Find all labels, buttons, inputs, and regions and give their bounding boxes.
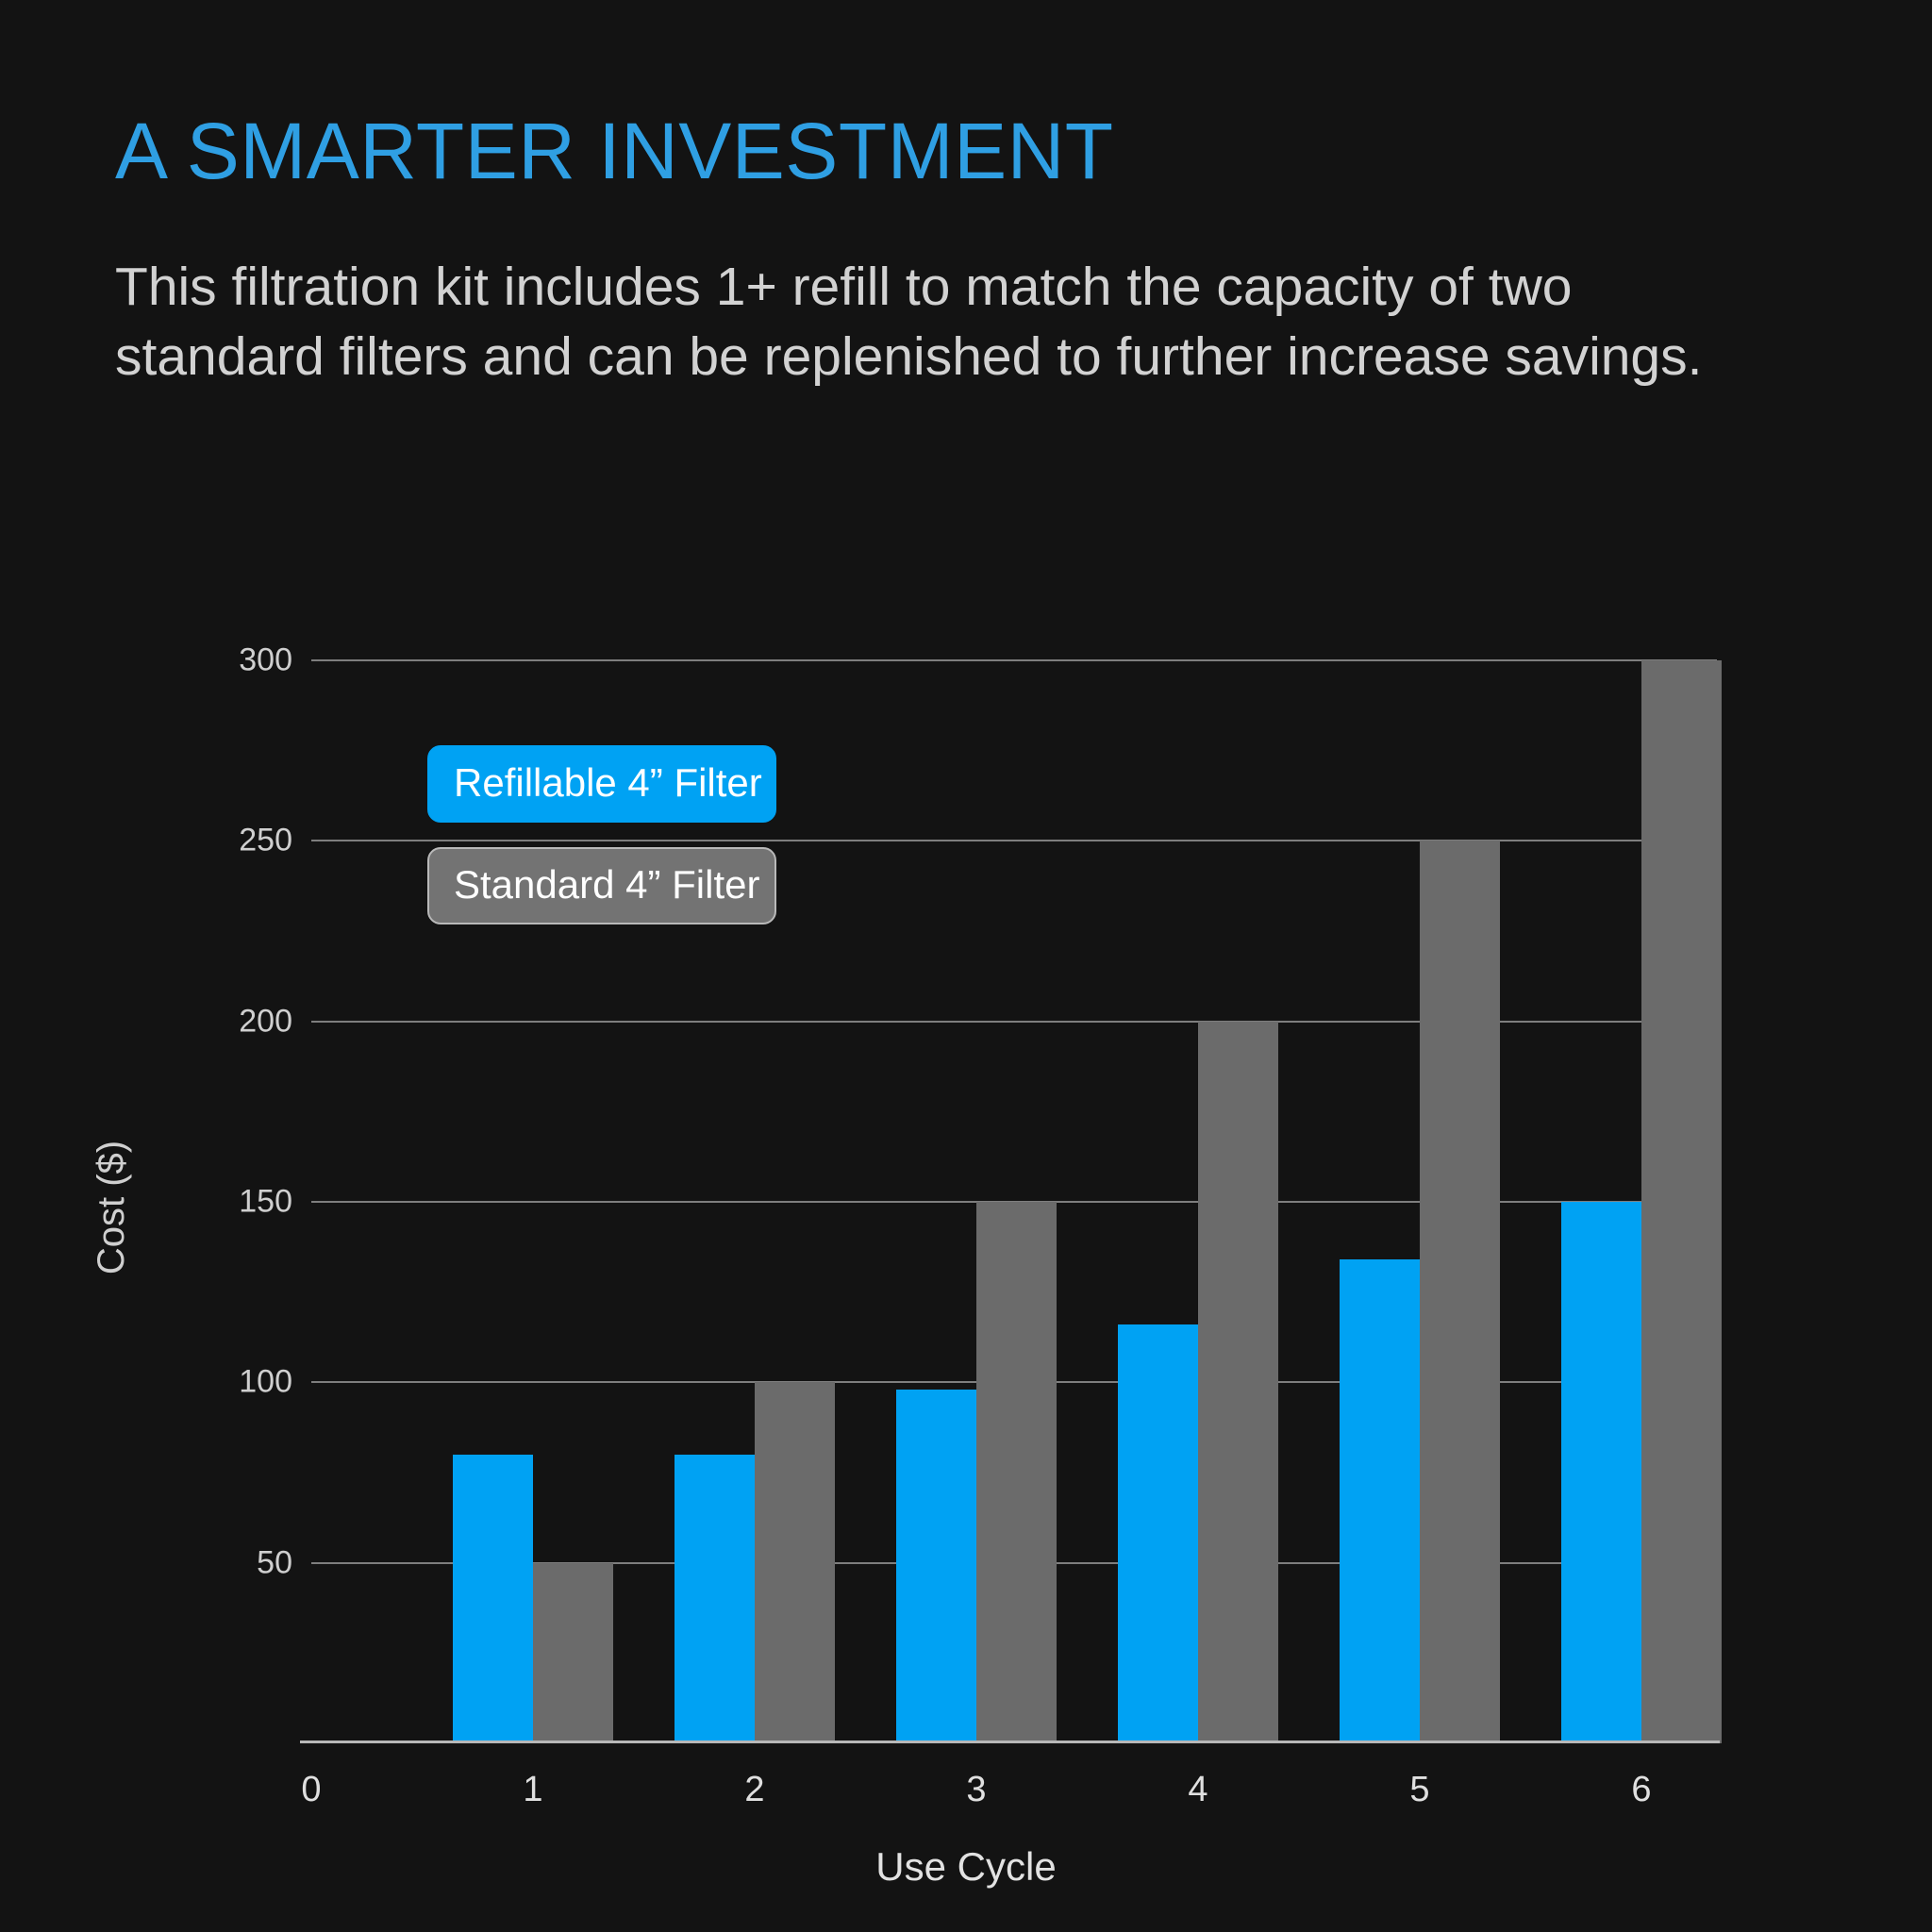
chart-legend: Refillable 4” Filter Standard 4” Filter [427, 745, 776, 924]
bar-refillable-cycle-2 [675, 1455, 755, 1743]
bar-standard-cycle-4 [1198, 1022, 1278, 1743]
bar-refillable-cycle-3 [896, 1390, 976, 1743]
legend-item-refillable[interactable]: Refillable 4” Filter [427, 745, 776, 823]
bar-standard-cycle-3 [976, 1202, 1057, 1743]
bar-standard-cycle-2 [755, 1382, 835, 1743]
x-tick-label: 2 [708, 1770, 802, 1810]
bar-chart: Cost ($) 50100150200250300 0123456 Use C… [0, 0, 1932, 1932]
bar-refillable-cycle-1 [453, 1455, 533, 1743]
x-tick-label: 5 [1373, 1770, 1467, 1810]
x-tick-label: 6 [1594, 1770, 1689, 1810]
bar-refillable-cycle-6 [1561, 1202, 1641, 1743]
x-tick-label: 4 [1151, 1770, 1245, 1810]
bar-standard-cycle-6 [1641, 660, 1722, 1743]
bar-refillable-cycle-5 [1340, 1259, 1420, 1743]
legend-item-standard[interactable]: Standard 4” Filter [427, 847, 776, 924]
x-tick-label: 3 [929, 1770, 1024, 1810]
bar-refillable-cycle-4 [1118, 1324, 1198, 1743]
x-axis-line [300, 1740, 1720, 1743]
x-tick-label: 0 [264, 1770, 358, 1810]
x-axis-title: Use Cycle [0, 1844, 1932, 1890]
x-tick-label: 1 [486, 1770, 580, 1810]
bars-layer [0, 0, 1932, 1743]
bar-standard-cycle-5 [1420, 841, 1500, 1743]
bar-standard-cycle-1 [533, 1563, 613, 1743]
